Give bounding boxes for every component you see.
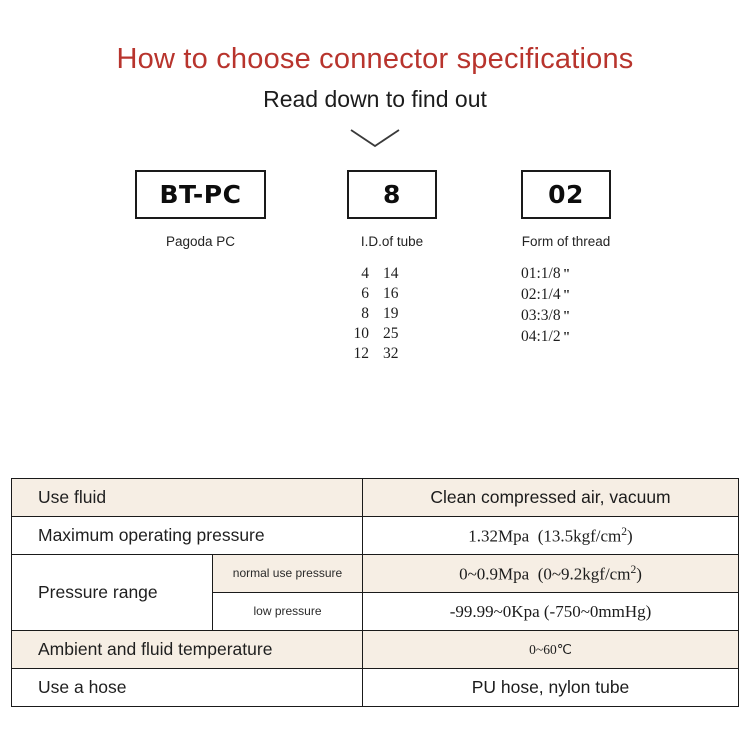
list-item: 12 32 — [347, 344, 465, 364]
value-text: PU hose, nylon tube — [363, 677, 738, 697]
tube-id-value: 6 — [347, 284, 383, 304]
value-text: -99.99~0Kpa (-750~0mmHg) — [363, 602, 738, 622]
value-text: Clean compressed air, vacuum — [363, 487, 738, 507]
chevron-wrapper — [0, 126, 750, 152]
tube-id-option-list: 4 14 6 16 8 19 10 25 12 32 — [347, 264, 465, 364]
tube-od-value: 19 — [383, 304, 417, 324]
code-box-series-text: BT-PC — [160, 180, 242, 209]
caption-tube-id: I.D.of tube — [347, 234, 437, 249]
row-value-max-pressure: 1.32Mpa (13.5kgf/cm2) — [363, 517, 739, 555]
row-label-use-fluid: Use fluid — [12, 479, 363, 517]
value-text: 0~60℃ — [363, 642, 738, 658]
thread-size-value: 03:3/8 — [521, 307, 561, 324]
table-row: Ambient and fluid temperature 0~60℃ — [12, 631, 739, 669]
tube-od-value: 25 — [383, 324, 417, 344]
thread-size-value: 04:1/2 — [521, 328, 561, 345]
table-row: Pressure range normal use pressure 0~0.9… — [12, 555, 739, 593]
list-item: 10 25 — [347, 324, 465, 344]
value-text: 1.32Mpa (13.5kgf/cm2) — [363, 525, 738, 546]
row-value-low-pressure: -99.99~0Kpa (-750~0mmHg) — [363, 593, 739, 631]
value-primary: 1.32Mpa — [468, 527, 529, 546]
caption-thread: Form of thread — [498, 234, 634, 249]
row-label-hose: Use a hose — [12, 669, 363, 707]
specification-table-wrapper: Use fluid Clean compressed air, vacuum M… — [11, 478, 738, 707]
code-box-series: BT-PC — [135, 170, 266, 219]
row-value-normal-use-pressure: 0~0.9Mpa (0~9.2kgf/cm2) — [363, 555, 739, 593]
label-text: Maximum operating pressure — [12, 525, 362, 545]
list-item: 04:1/2" — [521, 327, 661, 348]
sublabel-text: normal use pressure — [213, 567, 362, 581]
thread-option-list: 01:1/8" 02:1/4" 03:3/8" 04:1/2" — [521, 264, 661, 348]
chevron-down-icon — [348, 126, 402, 150]
thread-size-value: 01:1/8 — [521, 265, 561, 282]
specification-table: Use fluid Clean compressed air, vacuum M… — [11, 478, 739, 707]
tube-id-value: 4 — [347, 264, 383, 284]
row-value-hose: PU hose, nylon tube — [363, 669, 739, 707]
inch-mark: " — [561, 330, 571, 345]
thread-size-value: 02:1/4 — [521, 286, 561, 303]
list-item: 01:1/8" — [521, 264, 661, 285]
label-text: Ambient and fluid temperature — [12, 639, 362, 659]
label-text: Pressure range — [12, 582, 212, 602]
value-text: 0~0.9Mpa (0~9.2kgf/cm2) — [363, 563, 738, 584]
caption-series: Pagoda PC — [135, 234, 266, 249]
inch-mark: " — [561, 309, 571, 324]
tube-id-value: 12 — [347, 344, 383, 364]
value-secondary: (0~9.2kgf/cm — [538, 565, 631, 584]
code-box-tube-id-text: 8 — [383, 180, 401, 209]
list-item: 03:3/8" — [521, 306, 661, 327]
table-row: Use fluid Clean compressed air, vacuum — [12, 479, 739, 517]
row-label-temperature: Ambient and fluid temperature — [12, 631, 363, 669]
row-sublabel-low-pressure: low pressure — [213, 593, 363, 631]
option-lists-row: 4 14 6 16 8 19 10 25 12 32 01:1/8" 02:1/… — [0, 264, 750, 376]
row-value-use-fluid: Clean compressed air, vacuum — [363, 479, 739, 517]
code-box-tube-id: 8 — [347, 170, 437, 219]
tube-od-value: 14 — [383, 264, 417, 284]
code-captions-row: Pagoda PC I.D.of tube Form of thread — [0, 234, 750, 258]
table-row: Use a hose PU hose, nylon tube — [12, 669, 739, 707]
row-value-temperature: 0~60℃ — [363, 631, 739, 669]
value-primary: 0~0.9Mpa — [459, 565, 529, 584]
inch-mark: " — [561, 288, 571, 303]
code-boxes-row: BT-PC 8 02 — [0, 170, 750, 226]
list-item: 4 14 — [347, 264, 465, 284]
sublabel-text: low pressure — [213, 605, 362, 619]
page-title: How to choose connector specifications — [0, 44, 750, 76]
list-item: 8 19 — [347, 304, 465, 324]
tube-od-value: 32 — [383, 344, 417, 364]
row-label-pressure-range: Pressure range — [12, 555, 213, 631]
list-item: 6 16 — [347, 284, 465, 304]
table-row: Maximum operating pressure 1.32Mpa (13.5… — [12, 517, 739, 555]
code-box-thread: 02 — [521, 170, 611, 219]
tube-id-value: 8 — [347, 304, 383, 324]
tube-id-value: 10 — [347, 324, 383, 344]
value-paren-close: ) — [636, 565, 642, 584]
connector-spec-infographic: { "header": { "title": "How to choose co… — [0, 0, 750, 750]
tube-od-value: 16 — [383, 284, 417, 304]
code-box-thread-text: 02 — [548, 180, 584, 209]
page-subtitle: Read down to find out — [0, 87, 750, 112]
inch-mark: " — [561, 267, 571, 282]
value-paren-close: ) — [627, 527, 633, 546]
value-secondary: (13.5kgf/cm — [538, 527, 622, 546]
label-text: Use fluid — [12, 487, 362, 507]
list-item: 02:1/4" — [521, 285, 661, 306]
row-sublabel-normal-use-pressure: normal use pressure — [213, 555, 363, 593]
row-label-max-pressure: Maximum operating pressure — [12, 517, 363, 555]
page-header: How to choose connector specifications R… — [0, 0, 750, 112]
label-text: Use a hose — [12, 677, 362, 697]
